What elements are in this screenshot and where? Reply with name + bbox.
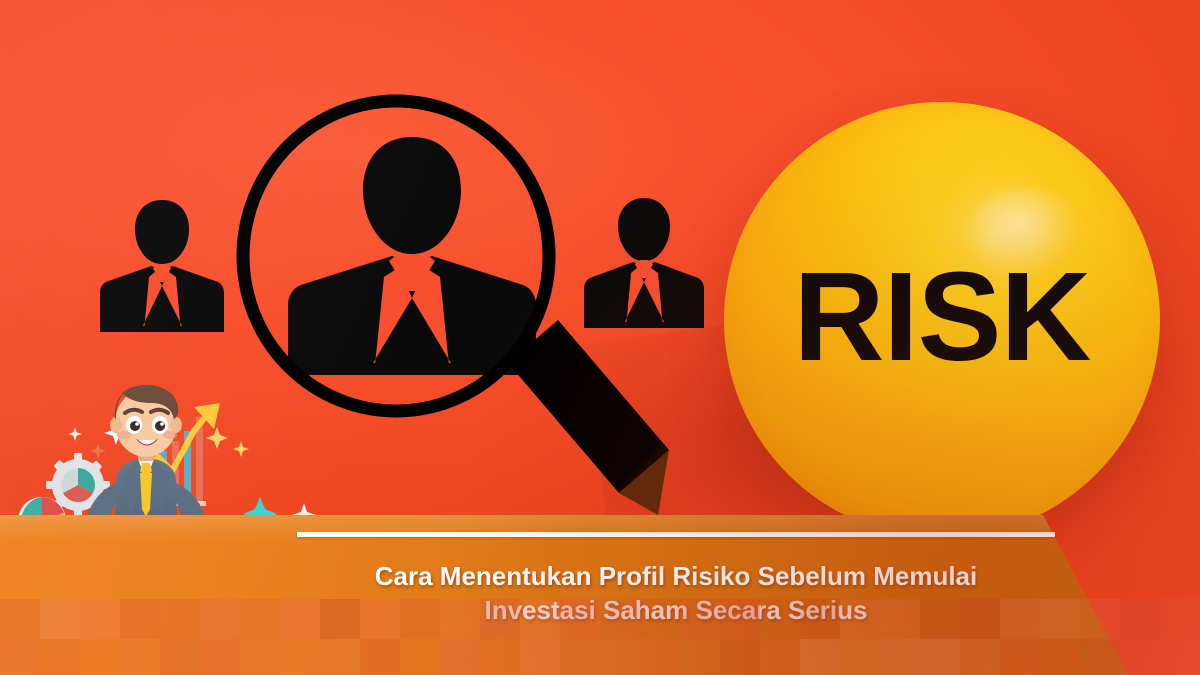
person-left-icon	[100, 198, 224, 332]
risk-sphere: RISK	[724, 102, 1160, 538]
banner-sheen	[0, 515, 1200, 541]
title-line-1: Cara Menentukan Profil Risiko Sebelum Me…	[300, 560, 1052, 593]
thumbnail-canvas: RISK	[0, 0, 1200, 675]
risk-label: RISK	[724, 102, 1160, 538]
title-divider	[297, 532, 1055, 537]
title-line-2: Investasi Saham Secara Serius	[300, 594, 1052, 627]
page-title: Cara Menentukan Profil Risiko Sebelum Me…	[300, 560, 1052, 627]
